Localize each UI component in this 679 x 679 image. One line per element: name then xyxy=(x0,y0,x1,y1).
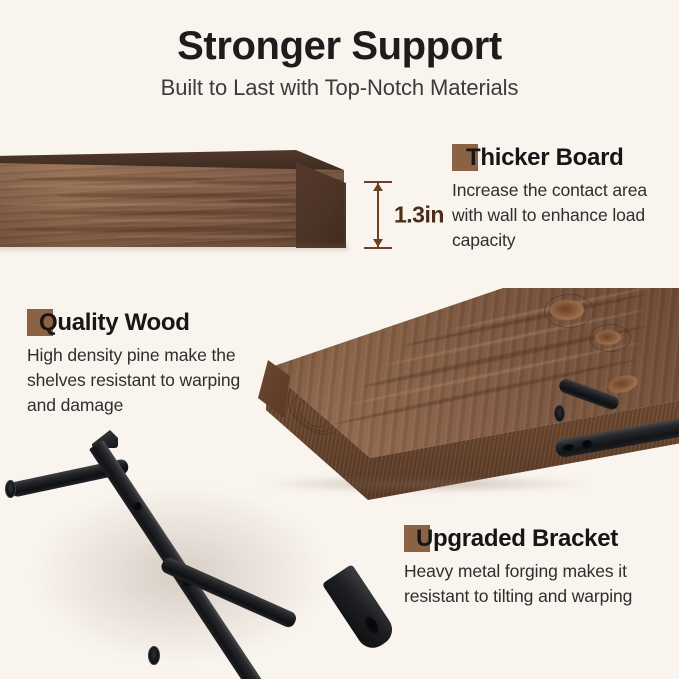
wood-plank-top xyxy=(0,140,386,252)
bracket-secondary xyxy=(520,392,679,468)
feature-title: Thicker Board xyxy=(452,143,623,172)
plank-shadow xyxy=(0,244,348,252)
infographic-canvas: Stronger Support Built to Last with Top-… xyxy=(0,0,679,679)
arrow-up-icon xyxy=(373,183,383,191)
feature-body: High density pine make the shelves resis… xyxy=(27,343,242,418)
feature-body: Heavy metal forging makes it resistant t… xyxy=(404,559,676,609)
feature-title: Quality Wood xyxy=(27,308,190,337)
page-subtitle: Built to Last with Top-Notch Materials xyxy=(0,75,679,101)
feature-heading: Quality Wood xyxy=(27,308,242,338)
bracket-rod-lower-tip xyxy=(148,646,160,665)
feature-quality-wood: Quality Wood High density pine make the … xyxy=(27,308,242,418)
bracket-bar xyxy=(554,418,679,458)
bracket-rod-tip xyxy=(554,405,565,422)
arrow-down-icon xyxy=(373,239,383,247)
feature-thicker-board: Thicker Board Increase the contact area … xyxy=(452,143,677,253)
bracket-rod-upper-tip xyxy=(5,480,16,498)
dimension-line xyxy=(377,183,379,247)
bracket-end-plate xyxy=(322,564,398,654)
feature-heading: Upgraded Bracket xyxy=(404,524,676,554)
feature-title: Upgraded Bracket xyxy=(404,524,618,553)
page-title: Stronger Support xyxy=(0,24,679,69)
feature-heading: Thicker Board xyxy=(452,143,677,173)
dimension-label: 1.3in xyxy=(394,202,444,229)
feature-upgraded-bracket: Upgraded Bracket Heavy metal forging mak… xyxy=(404,524,676,609)
header: Stronger Support Built to Last with Top-… xyxy=(0,24,679,101)
dimension-cap-bottom xyxy=(364,247,392,249)
feature-body: Increase the contact area with wall to e… xyxy=(452,178,677,253)
bracket-main xyxy=(0,430,400,679)
dimension-indicator: 1.3in xyxy=(364,181,464,249)
